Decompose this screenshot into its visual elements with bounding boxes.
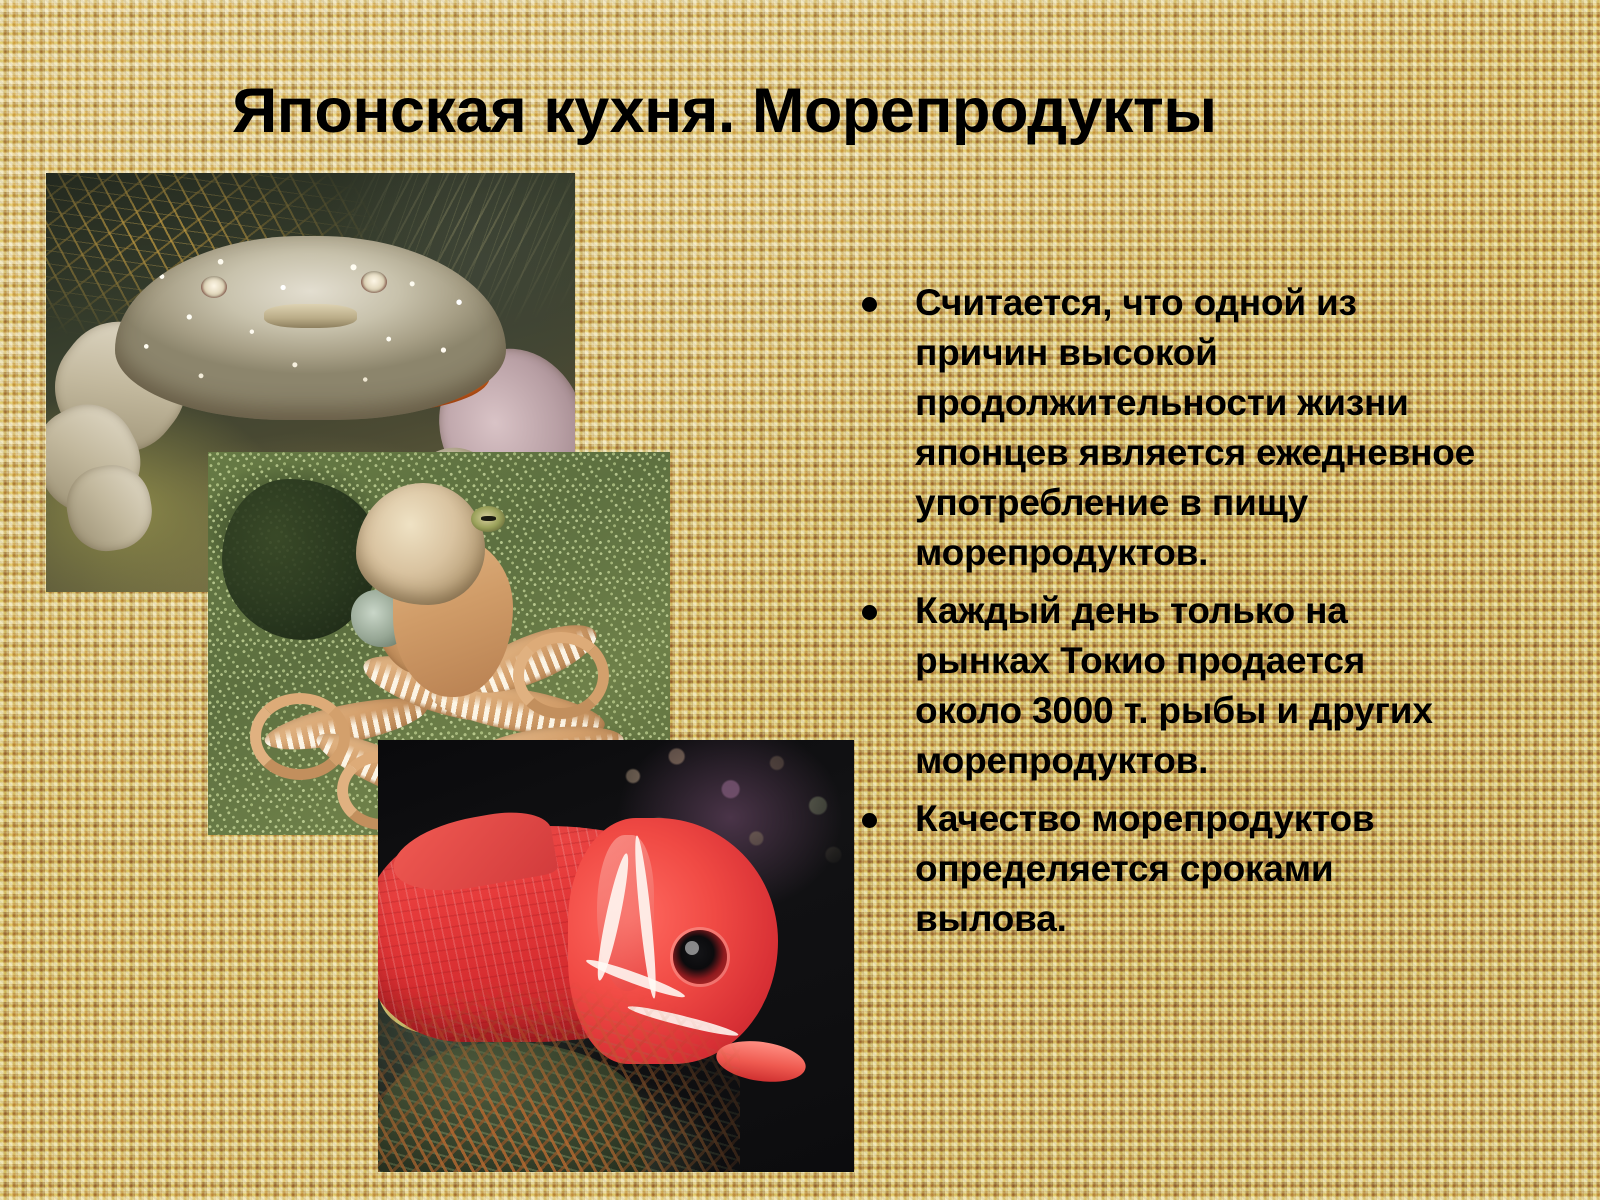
slide-root: Японская кухня. Морепродукты	[0, 0, 1600, 1200]
octopus-coiled-arm	[250, 693, 351, 780]
bullet-dot-icon	[862, 605, 877, 620]
bullet-dot-icon	[862, 813, 877, 828]
fish-eye	[673, 930, 727, 984]
bullet-text: Считается, что одной из причин высокой п…	[915, 278, 1482, 578]
crab-mouthparts	[264, 304, 358, 328]
bullet-dot-icon	[862, 297, 877, 312]
list-item: Качество морепродуктов определяется срок…	[862, 794, 1482, 944]
bullet-text: Каждый день только на рынках Токио прода…	[915, 586, 1482, 786]
list-item: Каждый день только на рынках Токио прода…	[862, 586, 1482, 786]
octopus-eye	[471, 506, 505, 532]
fish-coral-lower	[378, 982, 740, 1172]
bullet-text: Качество морепродуктов определяется срок…	[915, 794, 1482, 944]
fish-photo	[378, 740, 854, 1172]
bullet-list: Считается, что одной из причин высокой п…	[862, 278, 1482, 952]
octopus-coiled-arm	[513, 632, 609, 719]
list-item: Считается, что одной из причин высокой п…	[862, 278, 1482, 578]
slide-title: Японская кухня. Морепродукты	[232, 78, 1412, 144]
